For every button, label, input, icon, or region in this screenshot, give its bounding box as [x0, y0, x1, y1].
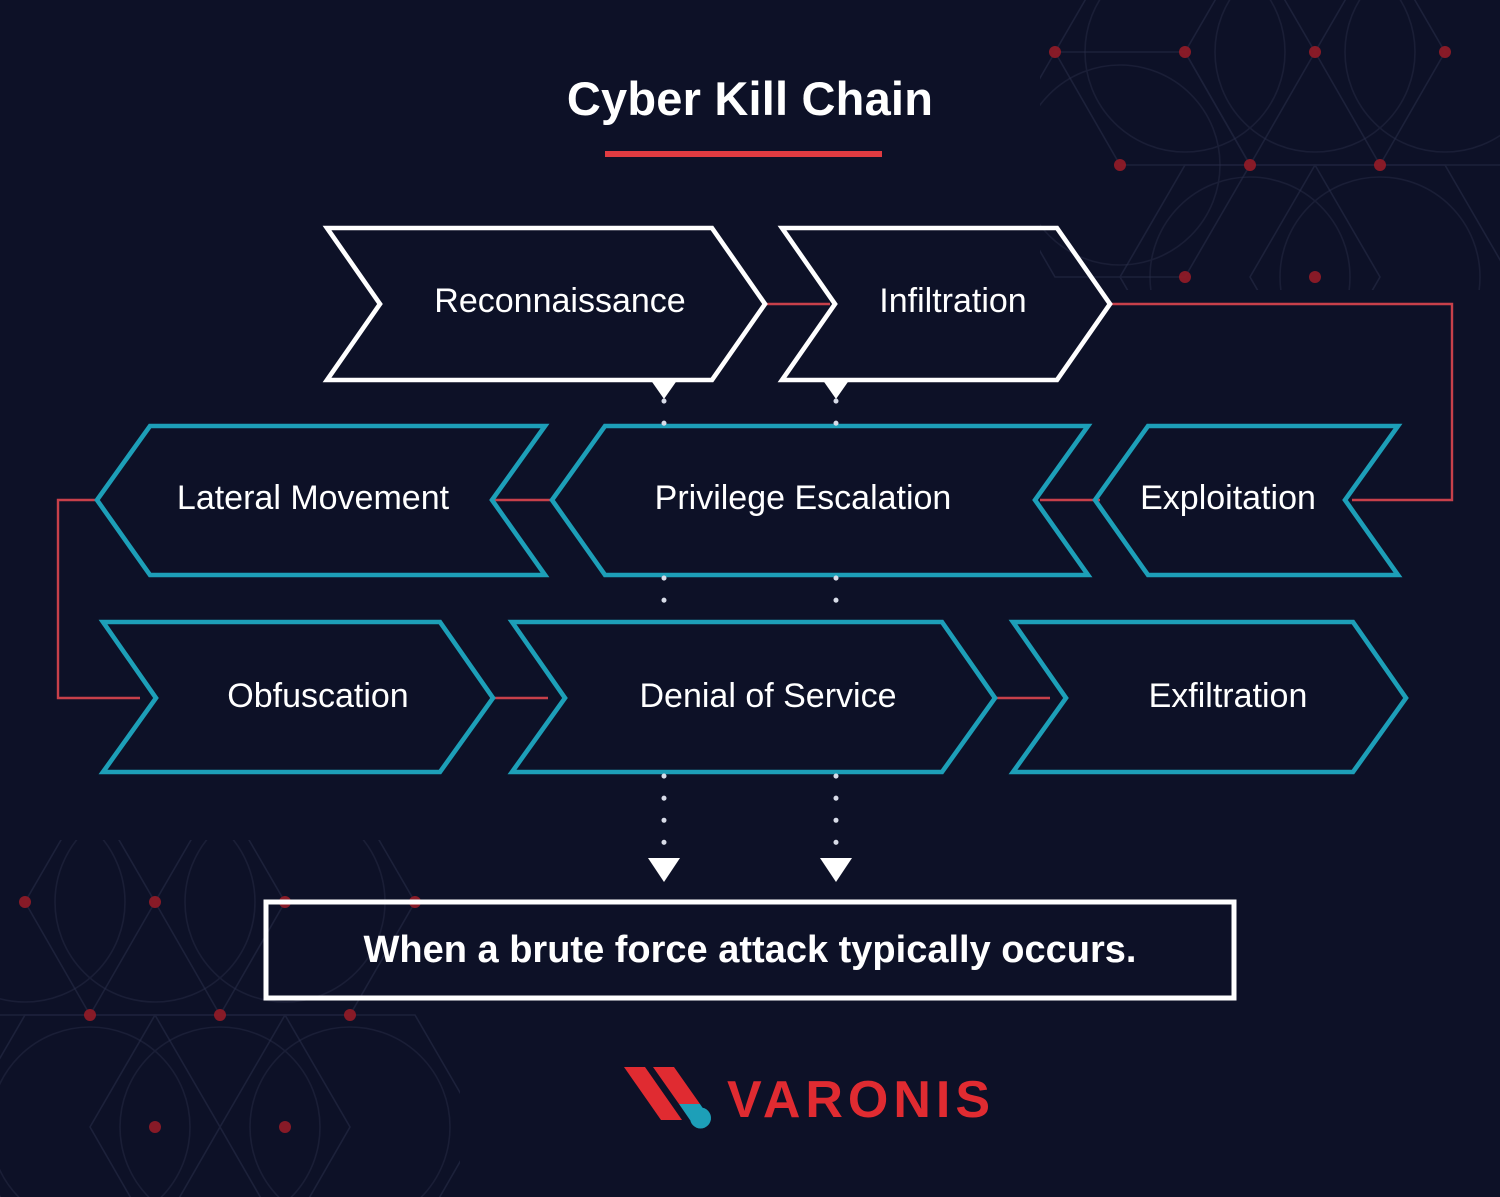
varonis-wordmark: VARONIS — [727, 1071, 995, 1129]
stage-obfuscation[interactable]: Obfuscation — [103, 622, 493, 772]
callout-text: When a brute force attack typically occu… — [364, 929, 1137, 971]
stage-label: Exploitation — [1140, 479, 1316, 517]
stage-label: Exfiltration — [1149, 677, 1308, 715]
down-arrow-icon — [822, 379, 850, 399]
row-lateral-privilege-exploitation: Lateral Movement Privilege Escalation Ex… — [97, 426, 1398, 575]
background-hex-pattern — [0, 0, 1500, 1197]
stage-label: Obfuscation — [227, 677, 408, 715]
annotation-dotted-connectors — [648, 379, 852, 882]
stage-infiltration[interactable]: Infiltration — [782, 228, 1110, 380]
varonis-mark-icon — [624, 1067, 711, 1129]
down-arrow-icon — [820, 858, 852, 882]
stage-privilege-escalation[interactable]: Privilege Escalation — [552, 426, 1088, 575]
stage-label: Reconnaissance — [434, 282, 685, 320]
varonis-logo[interactable]: VARONIS — [624, 1067, 995, 1129]
down-arrow-icon — [650, 379, 678, 399]
stage-reconnaissance[interactable]: Reconnaissance — [327, 228, 765, 380]
stage-label: Privilege Escalation — [655, 479, 952, 517]
stage-label: Denial of Service — [639, 677, 896, 715]
down-arrow-icon — [648, 858, 680, 882]
row-obfuscation-dos-exfiltration: Obfuscation Denial of Service Exfiltrati… — [103, 622, 1406, 772]
page-title: Cyber Kill Chain — [567, 72, 933, 125]
stage-lateral-movement[interactable]: Lateral Movement — [97, 426, 545, 575]
stage-label: Lateral Movement — [177, 479, 450, 517]
stage-label: Infiltration — [879, 282, 1026, 320]
row-reconnaissance-infiltration: Reconnaissance Infiltration — [327, 228, 1110, 380]
stage-exfiltration[interactable]: Exfiltration — [1013, 622, 1406, 772]
stage-denial-of-service[interactable]: Denial of Service — [512, 622, 995, 772]
infographic-canvas: Cyber Kill Chain Reconnaissance Infiltra… — [0, 0, 1500, 1197]
callout-box: When a brute force attack typically occu… — [266, 902, 1234, 998]
